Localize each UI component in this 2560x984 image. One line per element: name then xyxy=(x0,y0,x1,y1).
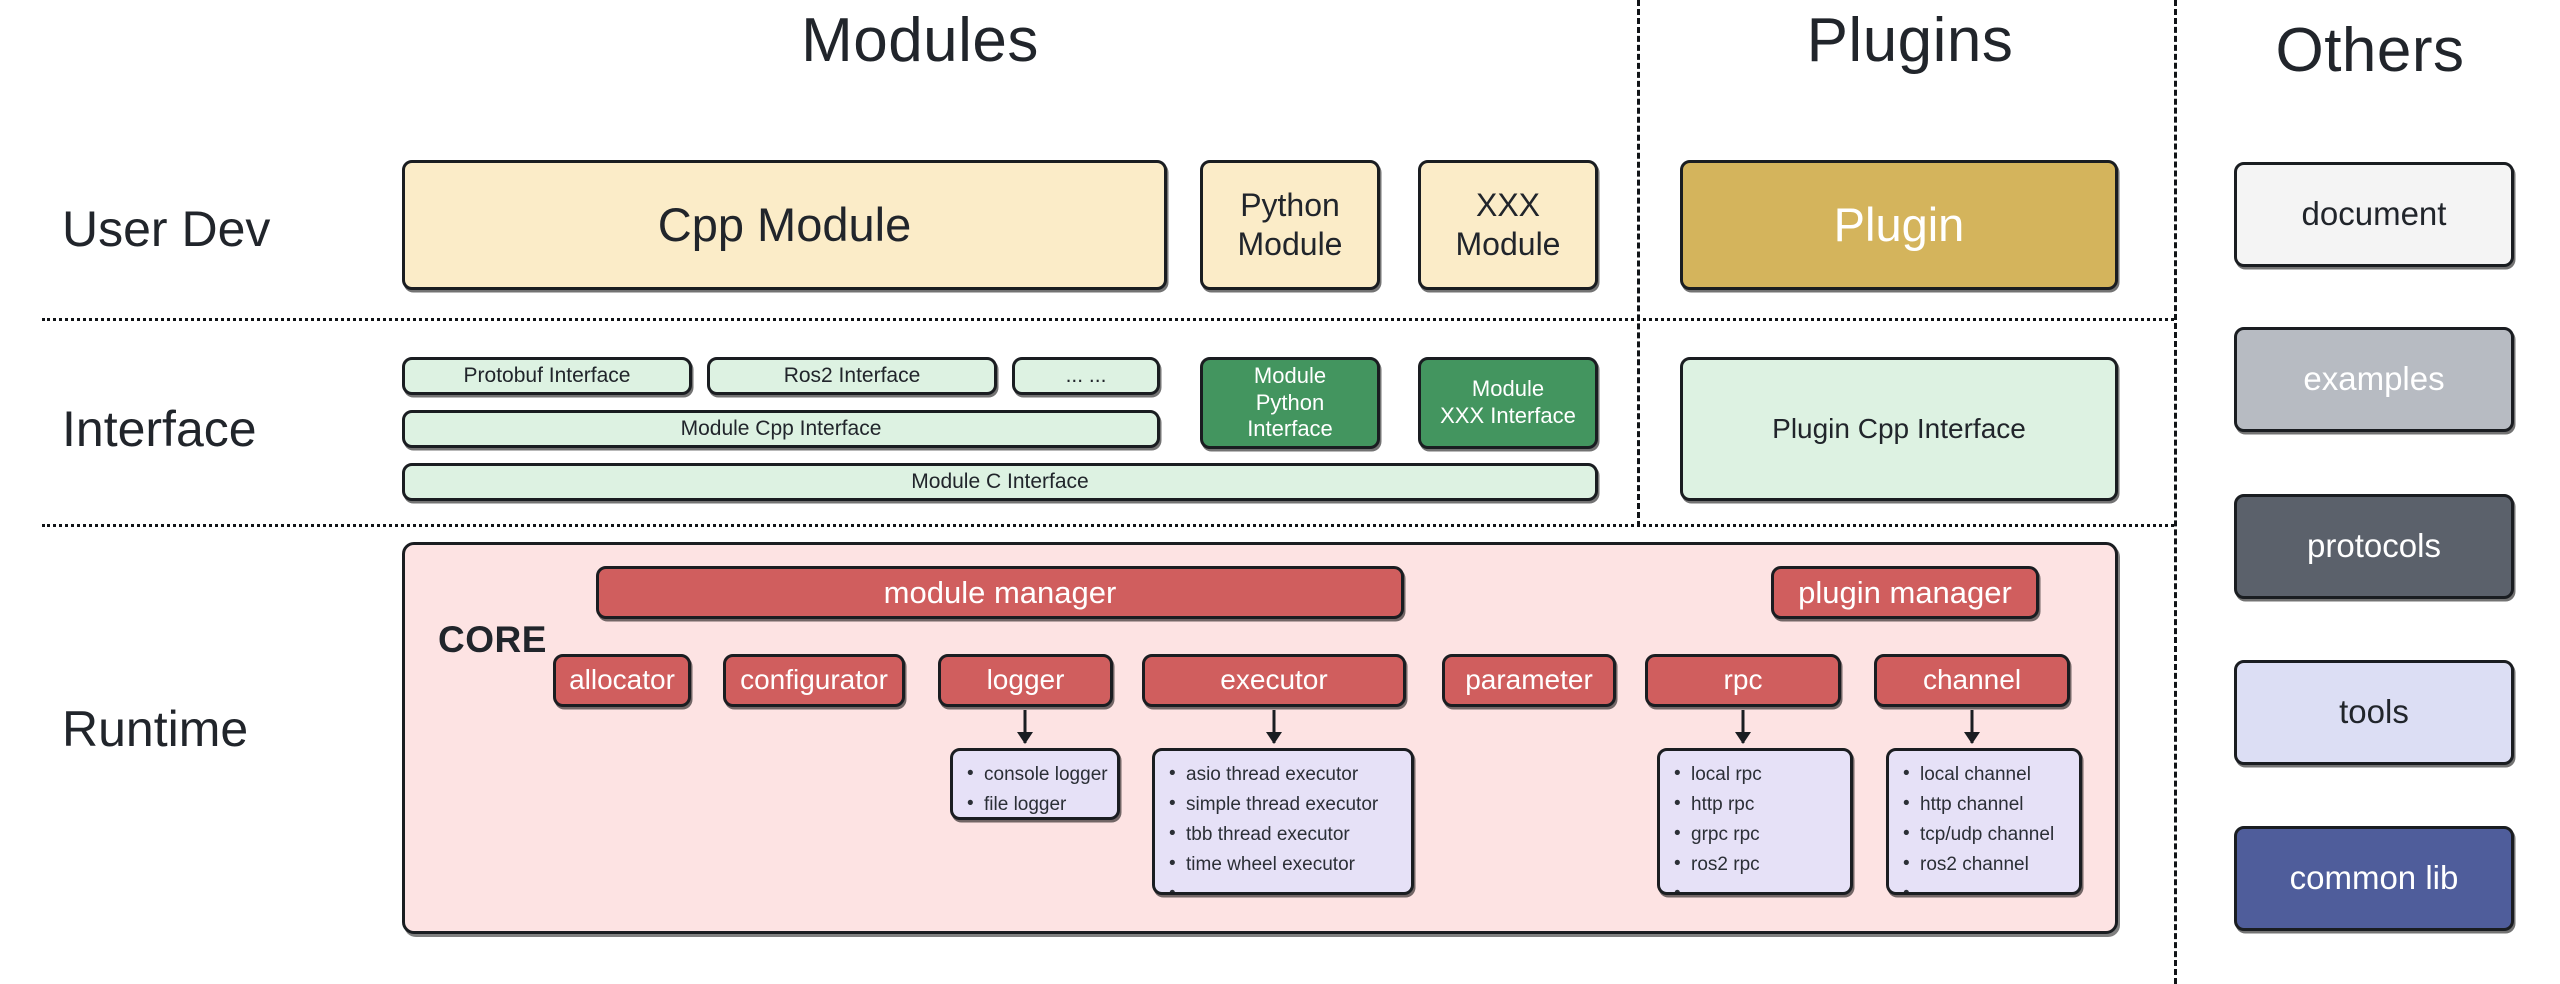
box-module-xxx-interface[interactable]: Module XXX Interface xyxy=(1418,357,1598,449)
box-executor[interactable]: executor xyxy=(1142,654,1406,707)
list-item: http channel xyxy=(1903,790,2069,820)
box-allocator[interactable]: allocator xyxy=(553,654,691,707)
list-item: ... ... xyxy=(1169,880,1401,895)
detail-box-rpc: local rpc http rpc grpc rpc ros2 rpc ...… xyxy=(1657,748,1853,895)
box-more-interface-label: ... ... xyxy=(1015,363,1157,389)
divider-modules-plugins xyxy=(1637,0,1640,527)
box-rpc[interactable]: rpc xyxy=(1645,654,1841,707)
box-plugin-manager-label: plugin manager xyxy=(1774,574,2036,612)
detail-box-executor: asio thread executor simple thread execu… xyxy=(1152,748,1414,895)
box-plugin-label: Plugin xyxy=(1683,196,2115,253)
box-others-examples-label: examples xyxy=(2237,359,2511,399)
divider-interface-runtime xyxy=(42,524,2174,527)
list-item: time wheel executor xyxy=(1169,850,1401,880)
box-others-common-lib[interactable]: common lib xyxy=(2234,826,2514,931)
box-module-c-interface[interactable]: Module C Interface xyxy=(402,463,1598,501)
box-more-interface[interactable]: ... ... xyxy=(1012,357,1160,395)
list-item: grpc rpc xyxy=(1674,820,1840,850)
divider-userdev-interface xyxy=(42,318,2174,321)
detail-box-channel: local channel http channel tcp/udp chann… xyxy=(1886,748,2082,895)
column-title-modules: Modules xyxy=(640,5,1200,76)
box-others-tools[interactable]: tools xyxy=(2234,660,2514,765)
box-others-document[interactable]: document xyxy=(2234,162,2514,267)
box-module-cpp-interface-label: Module Cpp Interface xyxy=(405,416,1157,442)
box-cpp-module-label: Cpp Module xyxy=(405,196,1164,253)
box-module-manager-label: module manager xyxy=(599,574,1401,612)
box-plugin-cpp-interface-label: Plugin Cpp Interface xyxy=(1683,412,2115,446)
box-module-python-interface-label: Module Python Interface xyxy=(1203,363,1377,443)
box-module-c-interface-label: Module C Interface xyxy=(405,469,1595,495)
box-cpp-module[interactable]: Cpp Module xyxy=(402,160,1167,290)
box-xxx-module[interactable]: XXX Module xyxy=(1418,160,1598,290)
box-module-manager[interactable]: module manager xyxy=(596,566,1404,619)
box-plugin-cpp-interface[interactable]: Plugin Cpp Interface xyxy=(1680,357,2118,501)
list-item: file logger xyxy=(967,790,1107,820)
box-module-cpp-interface[interactable]: Module Cpp Interface xyxy=(402,410,1160,448)
box-parameter[interactable]: parameter xyxy=(1442,654,1616,707)
list-item: http rpc xyxy=(1674,790,1840,820)
list-item: local rpc xyxy=(1674,760,1840,790)
list-item: ros2 channel xyxy=(1903,850,2069,880)
box-allocator-label: allocator xyxy=(556,663,688,697)
box-plugin[interactable]: Plugin xyxy=(1680,160,2118,290)
architecture-diagram: Modules Plugins Others User Dev Interfac… xyxy=(0,0,2560,984)
list-item: local channel xyxy=(1903,760,2069,790)
box-logger[interactable]: logger xyxy=(938,654,1113,707)
detail-list-rpc: local rpc http rpc grpc rpc ros2 rpc ...… xyxy=(1674,760,1840,895)
box-module-xxx-interface-label: Module XXX Interface xyxy=(1421,376,1595,430)
detail-list-executor: asio thread executor simple thread execu… xyxy=(1169,760,1401,895)
arrow-logger-to-detail xyxy=(1008,710,1042,743)
box-configurator-label: configurator xyxy=(726,663,902,697)
arrow-channel-to-detail xyxy=(1955,710,1989,743)
row-label-interface: Interface xyxy=(62,400,257,458)
detail-list-logger: console logger file logger xyxy=(967,760,1107,820)
box-others-protocols-label: protocols xyxy=(2237,526,2511,566)
list-item: ros2 rpc xyxy=(1674,850,1840,880)
box-protobuf-interface[interactable]: Protobuf Interface xyxy=(402,357,692,395)
box-channel-label: channel xyxy=(1877,663,2067,697)
arrow-rpc-to-detail xyxy=(1726,710,1760,743)
box-logger-label: logger xyxy=(941,663,1110,697)
list-item: simple thread executor xyxy=(1169,790,1401,820)
box-others-common-lib-label: common lib xyxy=(2237,858,2511,898)
box-executor-label: executor xyxy=(1145,663,1403,697)
box-rpc-label: rpc xyxy=(1648,663,1838,697)
detail-list-channel: local channel http channel tcp/udp chann… xyxy=(1903,760,2069,895)
divider-plugins-others xyxy=(2174,0,2177,984)
box-python-module-label: Python Module xyxy=(1203,186,1377,264)
list-item: tbb thread executor xyxy=(1169,820,1401,850)
box-configurator[interactable]: configurator xyxy=(723,654,905,707)
list-item: ... ... xyxy=(1674,880,1840,895)
core-label: CORE xyxy=(438,619,547,661)
box-python-module[interactable]: Python Module xyxy=(1200,160,1380,290)
box-others-protocols[interactable]: protocols xyxy=(2234,494,2514,599)
row-label-user-dev: User Dev xyxy=(62,200,270,258)
box-channel[interactable]: channel xyxy=(1874,654,2070,707)
box-plugin-manager[interactable]: plugin manager xyxy=(1771,566,2039,619)
box-module-python-interface[interactable]: Module Python Interface xyxy=(1200,357,1380,449)
row-label-runtime: Runtime xyxy=(62,700,248,758)
list-item: ... ... xyxy=(1903,880,2069,895)
box-ros2-interface-label: Ros2 Interface xyxy=(710,363,994,389)
column-title-plugins: Plugins xyxy=(1660,5,2160,76)
box-ros2-interface[interactable]: Ros2 Interface xyxy=(707,357,997,395)
list-item: tcp/udp channel xyxy=(1903,820,2069,850)
arrow-executor-to-detail xyxy=(1257,710,1291,743)
box-xxx-module-label: XXX Module xyxy=(1421,186,1595,264)
box-protobuf-interface-label: Protobuf Interface xyxy=(405,363,689,389)
list-item: console logger xyxy=(967,760,1107,790)
box-others-document-label: document xyxy=(2237,194,2511,234)
list-item: asio thread executor xyxy=(1169,760,1401,790)
detail-box-logger: console logger file logger xyxy=(950,748,1120,820)
box-parameter-label: parameter xyxy=(1445,663,1613,697)
column-title-others: Others xyxy=(2200,15,2540,86)
box-others-examples[interactable]: examples xyxy=(2234,327,2514,432)
box-others-tools-label: tools xyxy=(2237,692,2511,732)
